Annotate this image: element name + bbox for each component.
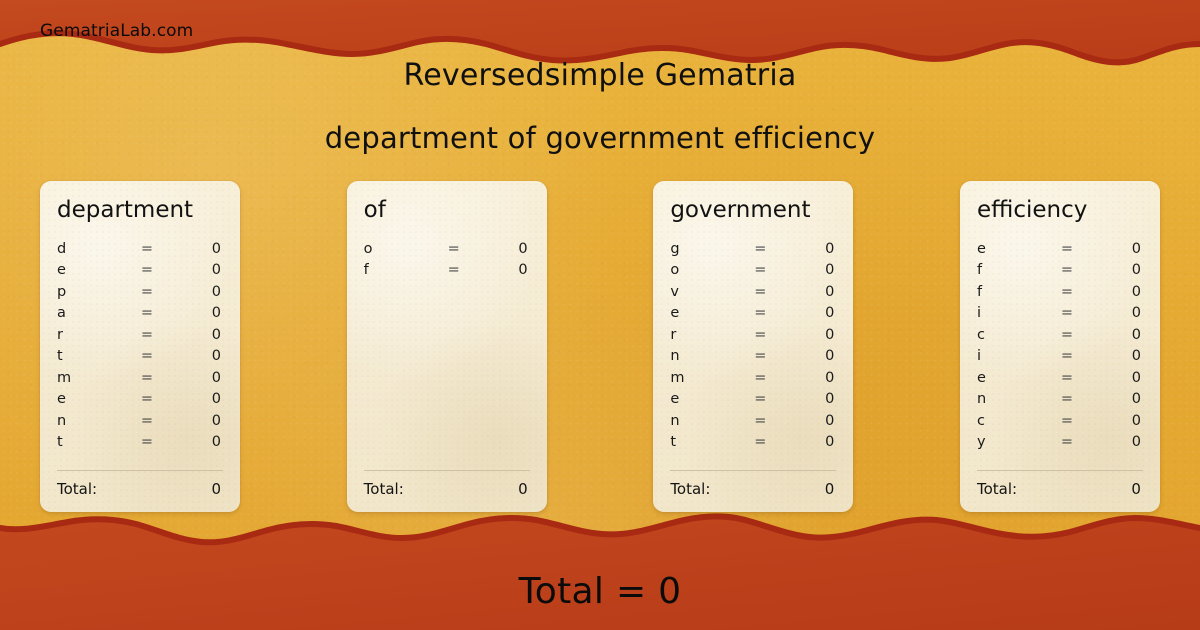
letter-row: g=0	[670, 238, 836, 260]
letter-value: 0	[466, 262, 530, 278]
letter-row: e=0	[57, 389, 223, 411]
equals-sign: =	[135, 348, 159, 364]
letter-row: o=0	[670, 260, 836, 282]
equals-sign: =	[1055, 370, 1079, 386]
equals-sign: =	[135, 241, 159, 257]
letter-label: e	[977, 370, 1055, 386]
card-word-title: government	[670, 199, 836, 222]
equals-sign: =	[135, 284, 159, 300]
letter-value: 0	[772, 305, 836, 321]
letter-label: t	[57, 434, 135, 450]
letter-value: 0	[772, 413, 836, 429]
card-total-section: Total:0	[57, 470, 223, 498]
letter-value: 0	[772, 241, 836, 257]
letter-row: e=0	[670, 303, 836, 325]
letter-row: o=0	[364, 238, 530, 260]
equals-sign: =	[748, 413, 772, 429]
equals-sign: =	[748, 434, 772, 450]
equals-sign: =	[135, 262, 159, 278]
letter-label: f	[977, 284, 1055, 300]
letter-value: 0	[1079, 305, 1143, 321]
equals-sign: =	[1055, 434, 1079, 450]
letter-rows: o=0f=0	[364, 238, 530, 470]
letter-value: 0	[159, 391, 223, 407]
letter-value: 0	[772, 262, 836, 278]
letter-value: 0	[772, 348, 836, 364]
card-word-title: of	[364, 199, 530, 222]
card-total-value: 0	[518, 480, 530, 498]
letter-value: 0	[159, 305, 223, 321]
letter-label: n	[670, 348, 748, 364]
letter-row: r=0	[57, 324, 223, 346]
letter-label: e	[977, 241, 1055, 257]
letter-value: 0	[1079, 348, 1143, 364]
grand-total: Total = 0	[0, 571, 1200, 612]
letter-label: a	[57, 305, 135, 321]
letter-row: n=0	[57, 410, 223, 432]
card-total-section: Total:0	[977, 470, 1143, 498]
equals-sign: =	[748, 241, 772, 257]
card-total-section: Total:0	[670, 470, 836, 498]
card-total-value: 0	[211, 480, 223, 498]
letter-label: n	[670, 413, 748, 429]
equals-sign: =	[748, 348, 772, 364]
equals-sign: =	[748, 327, 772, 343]
letter-label: n	[57, 413, 135, 429]
equals-sign: =	[1055, 348, 1079, 364]
equals-sign: =	[442, 241, 466, 257]
letter-value: 0	[1079, 241, 1143, 257]
letter-label: t	[57, 348, 135, 364]
letter-row: e=0	[977, 238, 1143, 260]
letter-label: n	[977, 391, 1055, 407]
word-card: departmentd=0e=0p=0a=0r=0t=0m=0e=0n=0t=0…	[40, 181, 240, 512]
letter-value: 0	[772, 327, 836, 343]
letter-row: e=0	[670, 389, 836, 411]
letter-label: y	[977, 434, 1055, 450]
equals-sign: =	[135, 413, 159, 429]
letter-label: e	[670, 305, 748, 321]
letter-label: m	[57, 370, 135, 386]
letter-label: g	[670, 241, 748, 257]
letter-label: v	[670, 284, 748, 300]
equals-sign: =	[1055, 241, 1079, 257]
letter-rows: e=0f=0f=0i=0c=0i=0e=0n=0c=0y=0	[977, 238, 1143, 470]
equals-sign: =	[135, 305, 159, 321]
letter-row: e=0	[57, 260, 223, 282]
letter-value: 0	[159, 327, 223, 343]
letter-value: 0	[1079, 284, 1143, 300]
letter-rows: g=0o=0v=0e=0r=0n=0m=0e=0n=0t=0	[670, 238, 836, 470]
card-word-title: department	[57, 199, 223, 222]
equals-sign: =	[135, 434, 159, 450]
equals-sign: =	[135, 370, 159, 386]
card-total-label: Total:	[364, 480, 518, 498]
letter-row: p=0	[57, 281, 223, 303]
equals-sign: =	[135, 327, 159, 343]
equals-sign: =	[1055, 284, 1079, 300]
equals-sign: =	[748, 370, 772, 386]
letter-label: t	[670, 434, 748, 450]
letter-label: d	[57, 241, 135, 257]
card-total-value: 0	[825, 480, 837, 498]
word-card: efficiencye=0f=0f=0i=0c=0i=0e=0n=0c=0y=0…	[960, 181, 1160, 512]
equals-sign: =	[748, 305, 772, 321]
letter-value: 0	[466, 241, 530, 257]
letter-row: m=0	[57, 367, 223, 389]
letter-rows: d=0e=0p=0a=0r=0t=0m=0e=0n=0t=0	[57, 238, 223, 470]
letter-label: f	[977, 262, 1055, 278]
letter-row: c=0	[977, 324, 1143, 346]
letter-row: t=0	[57, 346, 223, 368]
letter-row: i=0	[977, 346, 1143, 368]
letter-row: n=0	[670, 346, 836, 368]
letter-value: 0	[159, 348, 223, 364]
letter-value: 0	[1079, 391, 1143, 407]
equals-sign: =	[1055, 413, 1079, 429]
letter-row: n=0	[977, 389, 1143, 411]
letter-value: 0	[159, 434, 223, 450]
equals-sign: =	[1055, 391, 1079, 407]
letter-label: c	[977, 327, 1055, 343]
letter-label: i	[977, 305, 1055, 321]
letter-value: 0	[1079, 262, 1143, 278]
card-total-row: Total:0	[977, 480, 1143, 498]
gematria-result-page: GematriaLab.com Reversedsimple Gematria …	[0, 0, 1200, 630]
letter-value: 0	[772, 391, 836, 407]
letter-value: 0	[1079, 434, 1143, 450]
card-total-label: Total:	[977, 480, 1131, 498]
letter-value: 0	[159, 413, 223, 429]
word-card: governmentg=0o=0v=0e=0r=0n=0m=0e=0n=0t=0…	[653, 181, 853, 512]
letter-row: y=0	[977, 432, 1143, 454]
letter-row: f=0	[977, 260, 1143, 282]
card-total-label: Total:	[670, 480, 824, 498]
letter-label: m	[670, 370, 748, 386]
letter-row: v=0	[670, 281, 836, 303]
letter-label: e	[57, 262, 135, 278]
letter-value: 0	[772, 284, 836, 300]
letter-row: n=0	[670, 410, 836, 432]
equals-sign: =	[135, 391, 159, 407]
letter-label: f	[364, 262, 442, 278]
letter-row: i=0	[977, 303, 1143, 325]
letter-label: e	[57, 391, 135, 407]
card-total-section: Total:0	[364, 470, 530, 498]
card-total-row: Total:0	[670, 480, 836, 498]
letter-value: 0	[1079, 413, 1143, 429]
equals-sign: =	[748, 262, 772, 278]
equals-sign: =	[748, 391, 772, 407]
letter-value: 0	[159, 262, 223, 278]
letter-row: c=0	[977, 410, 1143, 432]
letter-label: c	[977, 413, 1055, 429]
word-breakdown-cards: departmentd=0e=0p=0a=0r=0t=0m=0e=0n=0t=0…	[40, 181, 1160, 512]
letter-row: t=0	[57, 432, 223, 454]
letter-value: 0	[772, 434, 836, 450]
equals-sign: =	[1055, 305, 1079, 321]
letter-label: r	[670, 327, 748, 343]
card-total-row: Total:0	[57, 480, 223, 498]
site-logo[interactable]: GematriaLab.com	[40, 21, 193, 41]
letter-row: r=0	[670, 324, 836, 346]
word-card: ofo=0f=0Total:0	[347, 181, 547, 512]
letter-value: 0	[772, 370, 836, 386]
letter-row: d=0	[57, 238, 223, 260]
letter-label: o	[364, 241, 442, 257]
letter-row: t=0	[670, 432, 836, 454]
letter-label: o	[670, 262, 748, 278]
phrase-heading: department of government efficiency	[0, 121, 1200, 155]
equals-sign: =	[442, 262, 466, 278]
card-word-title: efficiency	[977, 199, 1143, 222]
letter-row: f=0	[364, 260, 530, 282]
letter-value: 0	[1079, 370, 1143, 386]
letter-row: e=0	[977, 367, 1143, 389]
letter-row: f=0	[977, 281, 1143, 303]
letter-value: 0	[159, 241, 223, 257]
letter-value: 0	[159, 284, 223, 300]
letter-label: r	[57, 327, 135, 343]
equals-sign: =	[748, 284, 772, 300]
letter-value: 0	[1079, 327, 1143, 343]
card-total-row: Total:0	[364, 480, 530, 498]
card-total-value: 0	[1131, 480, 1143, 498]
equals-sign: =	[1055, 327, 1079, 343]
letter-label: i	[977, 348, 1055, 364]
page-title: Reversedsimple Gematria	[0, 58, 1200, 93]
card-total-label: Total:	[57, 480, 211, 498]
equals-sign: =	[1055, 262, 1079, 278]
letter-label: p	[57, 284, 135, 300]
letter-row: m=0	[670, 367, 836, 389]
letter-label: e	[670, 391, 748, 407]
letter-value: 0	[159, 370, 223, 386]
letter-row: a=0	[57, 303, 223, 325]
